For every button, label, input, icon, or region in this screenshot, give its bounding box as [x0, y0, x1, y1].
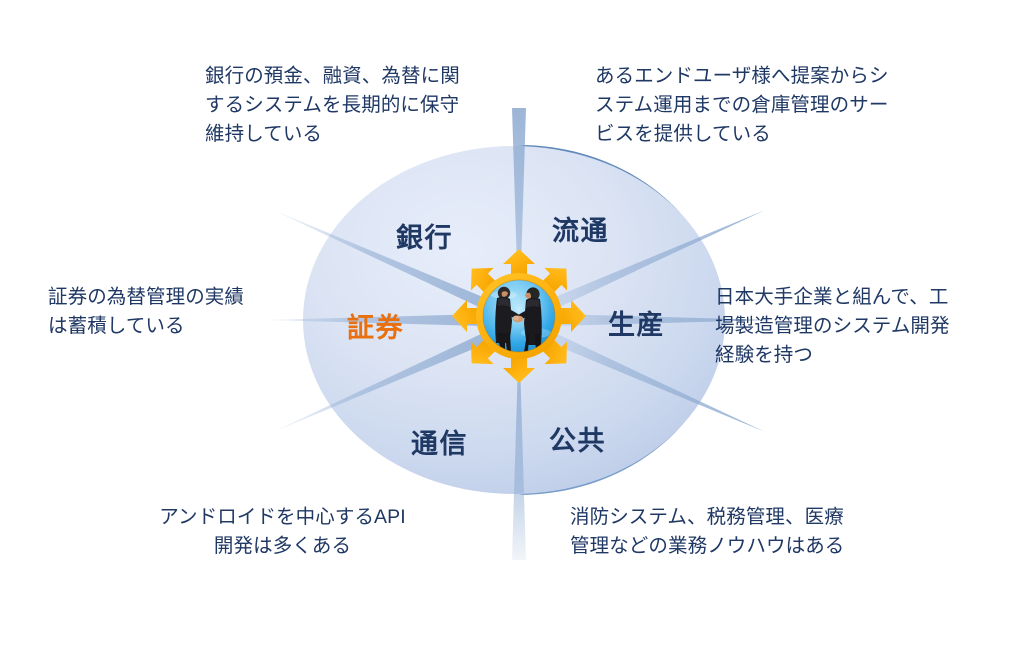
hub-arrow-n: [503, 249, 535, 276]
hub-svg: [452, 249, 586, 383]
callout-production: 日本大手企業と組んで、工 場製造管理のシステム開発 経験を持つ: [715, 283, 1015, 370]
hub-arrow-e: [559, 300, 586, 332]
hub-arrow-w: [452, 300, 479, 332]
callout-public: 消防システム、税務管理、医療 管理などの業務ノウハウはある: [570, 503, 895, 561]
clasped-hands: [512, 316, 523, 323]
callout-bank: 銀行の預金、融資、為替に関 するシステムを長期的に保守 維持している: [205, 62, 505, 149]
sector-label-public[interactable]: 公共: [549, 419, 606, 458]
sector-label-production[interactable]: 生産: [608, 303, 665, 342]
sector-label-distribution[interactable]: 流通: [552, 209, 609, 248]
sector-label-securities[interactable]: 証券: [347, 306, 404, 345]
callout-distribution: あるエンドユーザ様へ提案からシ ステム運用までの倉庫管理のサー ビスを提供してい…: [595, 62, 915, 149]
hub-arrow-s: [503, 356, 535, 383]
callout-securities: 証券の為替管理の実績 は蓄積している: [48, 283, 306, 341]
diagram-canvas: 銀行 流通 証券 生産 通信 公共: [0, 0, 1031, 647]
sector-label-bank[interactable]: 銀行: [396, 216, 453, 255]
callout-telecom: アンドロイドを中心するAPI 開発は多くある: [130, 503, 435, 561]
handshake-partnership-hub[interactable]: [452, 249, 586, 383]
sector-label-telecom[interactable]: 通信: [411, 422, 468, 461]
